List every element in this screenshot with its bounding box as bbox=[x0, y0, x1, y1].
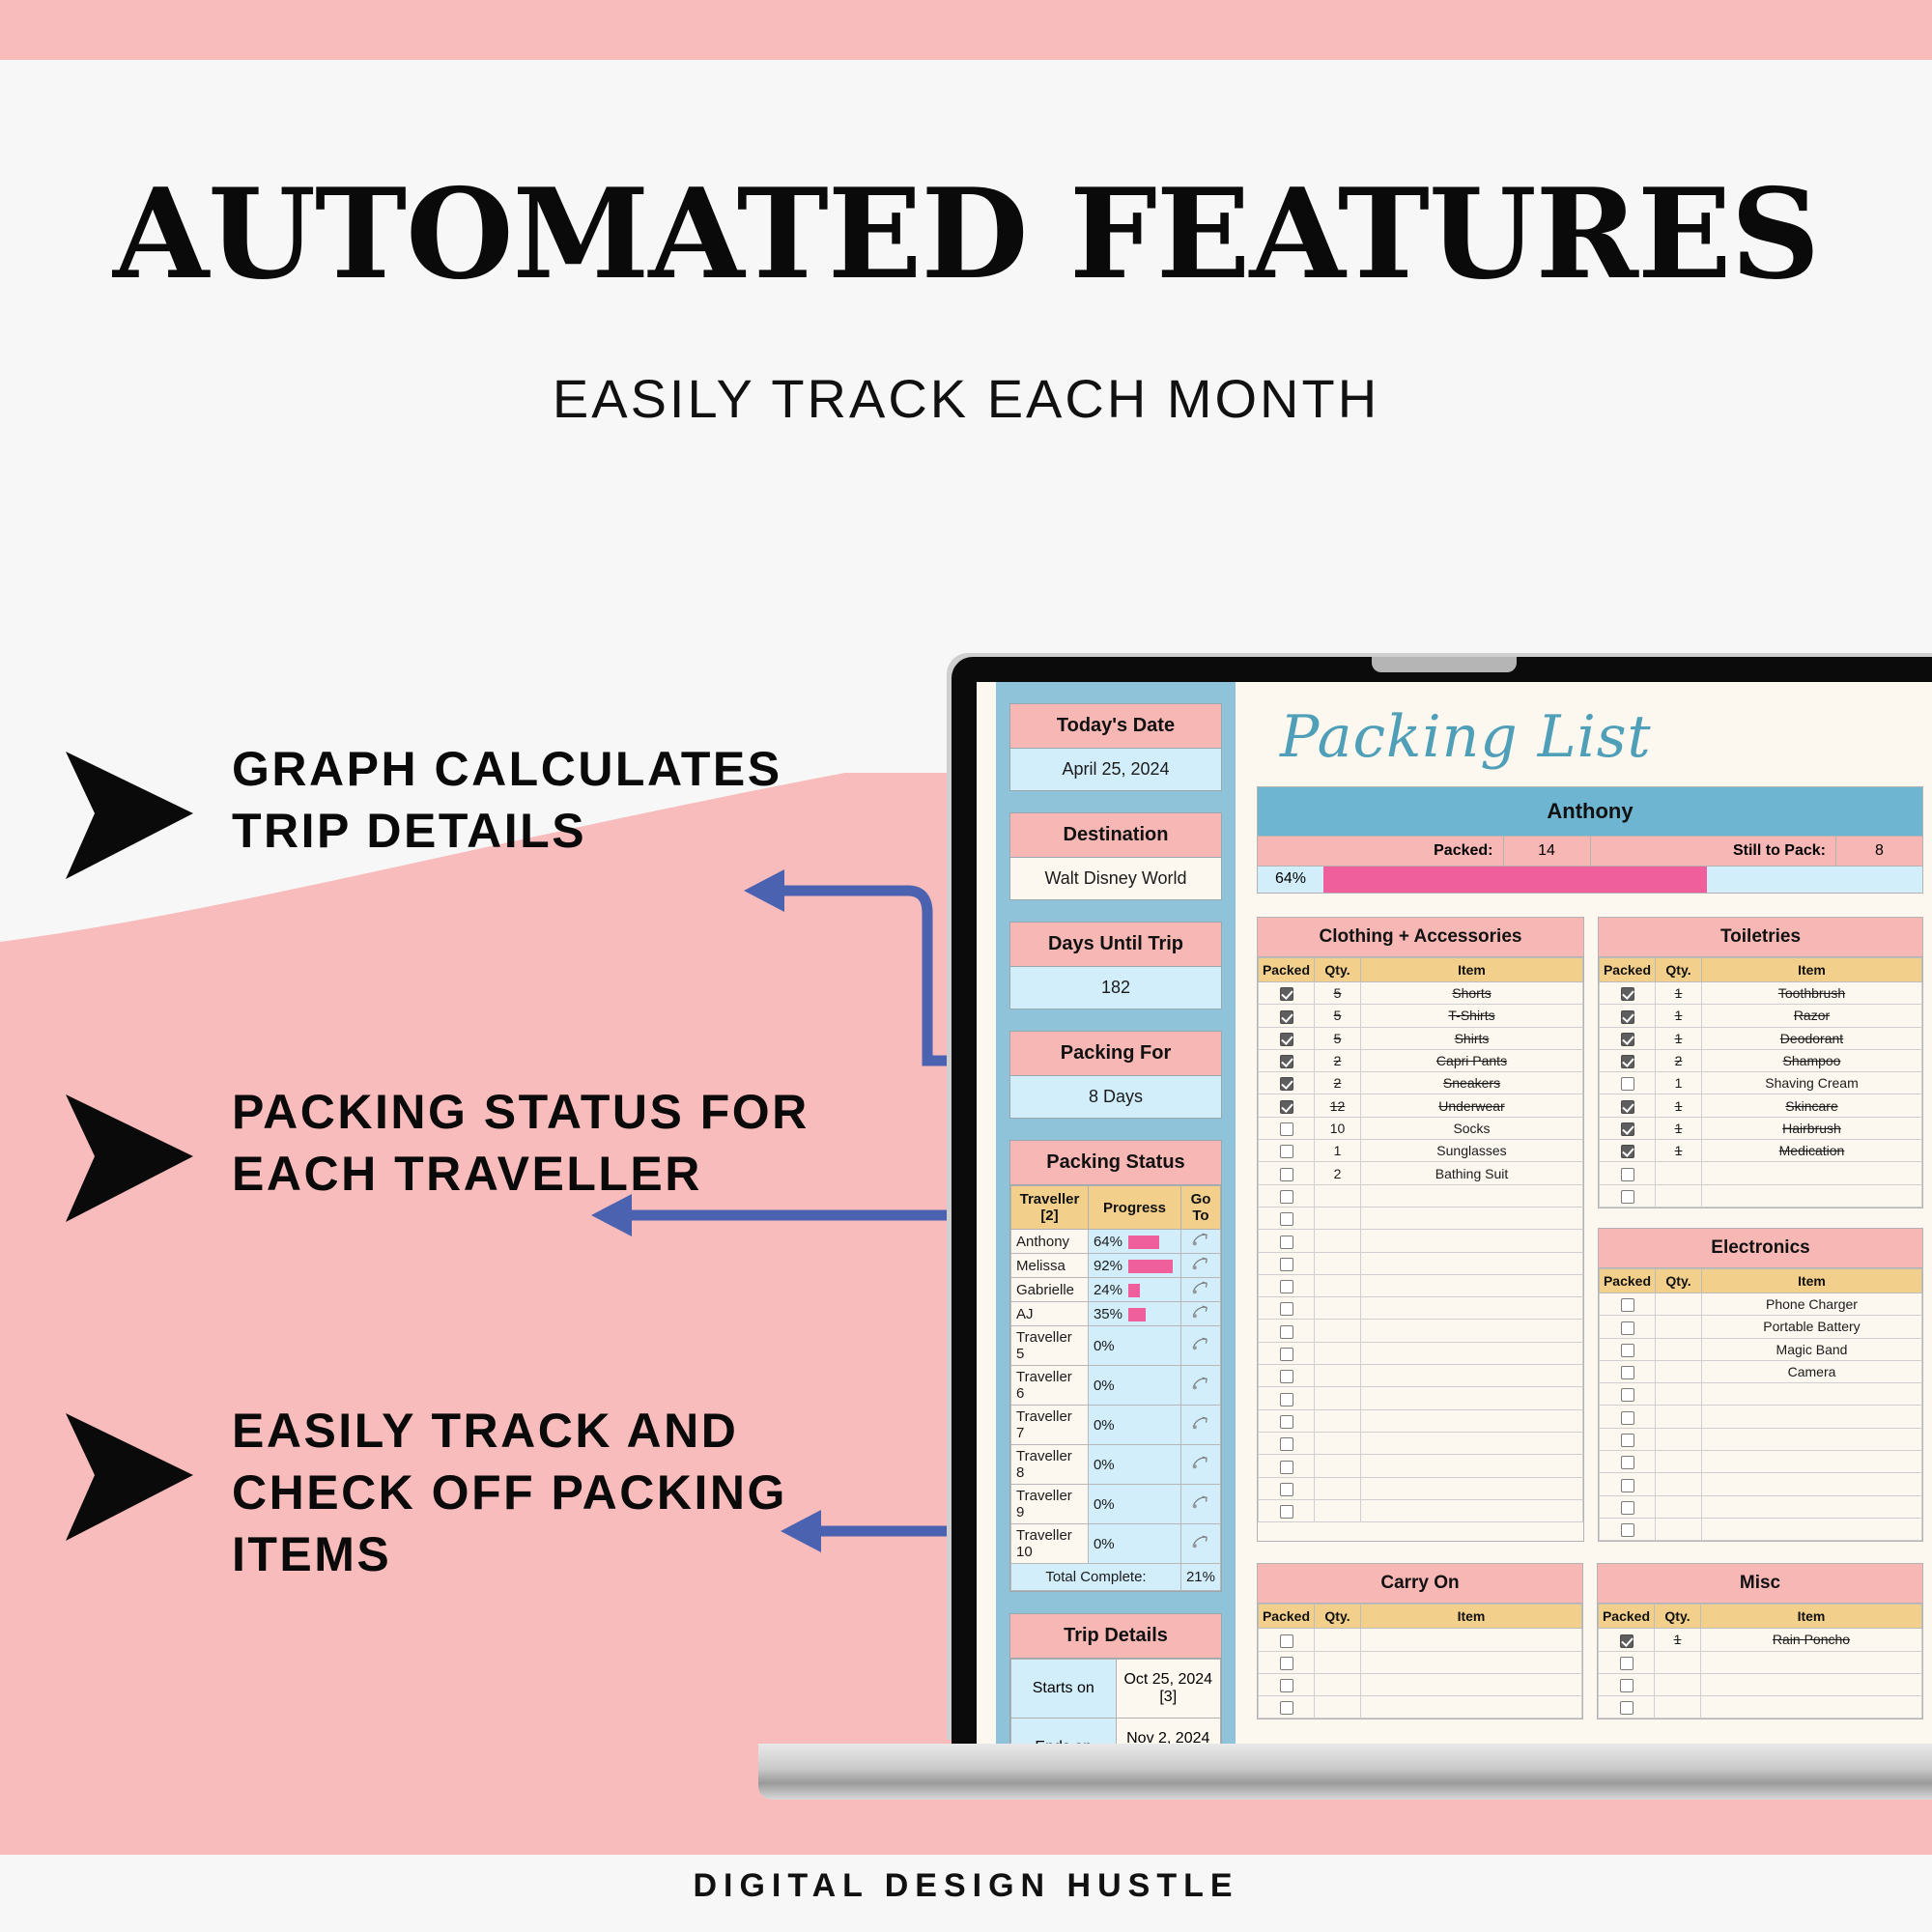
item-row bbox=[1259, 1455, 1583, 1477]
qty-cell[interactable] bbox=[1656, 1316, 1702, 1338]
packed-checkbox[interactable] bbox=[1280, 1100, 1293, 1114]
packed-checkbox[interactable] bbox=[1280, 1145, 1293, 1158]
qty-cell[interactable] bbox=[1656, 1338, 1702, 1360]
packed-checkbox[interactable] bbox=[1620, 1634, 1634, 1648]
qty-cell[interactable] bbox=[1655, 1651, 1701, 1673]
traveller-name-cell[interactable]: Melissa bbox=[1011, 1254, 1089, 1278]
item-cell[interactable] bbox=[1361, 1252, 1583, 1274]
item-cell[interactable] bbox=[1702, 1451, 1922, 1473]
packed-cell[interactable] bbox=[1600, 1473, 1656, 1495]
progress-minibar bbox=[1128, 1284, 1140, 1297]
category-title: Carry On bbox=[1258, 1564, 1582, 1604]
traveller-name-cell[interactable]: Anthony bbox=[1011, 1230, 1089, 1254]
item-row bbox=[1259, 1673, 1582, 1695]
goto-cell[interactable] bbox=[1180, 1366, 1220, 1406]
packed-cell[interactable] bbox=[1600, 1360, 1656, 1382]
packed-cell[interactable] bbox=[1599, 1629, 1655, 1651]
qty-cell[interactable] bbox=[1656, 1184, 1702, 1207]
packed-cell[interactable] bbox=[1259, 1477, 1315, 1499]
item-cell[interactable]: Hairbrush bbox=[1702, 1117, 1922, 1139]
link-arrow-icon[interactable] bbox=[1191, 1233, 1210, 1246]
qty-cell[interactable] bbox=[1315, 1387, 1361, 1409]
qty-cell[interactable] bbox=[1315, 1673, 1361, 1695]
packed-cell[interactable] bbox=[1600, 1293, 1656, 1315]
packing-status-body: Anthony64%Melissa92%Gabrielle24%AJ35%Tra… bbox=[1011, 1230, 1221, 1564]
progress-fill bbox=[1323, 867, 1707, 893]
qty-cell[interactable]: 10 bbox=[1315, 1117, 1361, 1139]
packed-checkbox[interactable] bbox=[1621, 1366, 1634, 1379]
qty-cell[interactable] bbox=[1315, 1409, 1361, 1432]
packed-checkbox[interactable] bbox=[1621, 1501, 1634, 1515]
qty-cell[interactable] bbox=[1315, 1184, 1361, 1207]
packing-status-row: Traveller 70% bbox=[1011, 1406, 1221, 1445]
packed-checkbox[interactable] bbox=[1280, 1212, 1293, 1226]
item-cell[interactable] bbox=[1361, 1184, 1583, 1207]
starts-on-label: Starts on bbox=[1011, 1660, 1117, 1719]
packed-checkbox[interactable] bbox=[1621, 1456, 1634, 1469]
item-cell[interactable] bbox=[1361, 1629, 1582, 1651]
traveller-progress-cell: 0% bbox=[1088, 1485, 1180, 1524]
qty-cell[interactable] bbox=[1315, 1365, 1361, 1387]
item-cell[interactable]: Deodorant bbox=[1702, 1027, 1922, 1049]
item-row bbox=[1599, 1673, 1922, 1695]
packed-cell[interactable] bbox=[1259, 1320, 1315, 1342]
qty-cell[interactable]: 1 bbox=[1656, 1027, 1702, 1049]
packed-checkbox[interactable] bbox=[1280, 1634, 1293, 1648]
packed-cell[interactable] bbox=[1259, 1274, 1315, 1296]
packed-cell[interactable] bbox=[1600, 1338, 1656, 1360]
traveller-name-cell[interactable]: Traveller 10 bbox=[1011, 1524, 1089, 1564]
item-cell[interactable] bbox=[1361, 1409, 1583, 1432]
qty-cell[interactable] bbox=[1315, 1477, 1361, 1499]
packed-checkbox[interactable] bbox=[1621, 1145, 1634, 1158]
packing-status-header-row: Traveller [2] Progress Go To bbox=[1011, 1186, 1221, 1230]
packed-checkbox[interactable] bbox=[1280, 1122, 1293, 1136]
item-cell[interactable] bbox=[1702, 1162, 1922, 1184]
qty-cell[interactable] bbox=[1656, 1383, 1702, 1406]
packed-cell[interactable] bbox=[1259, 1387, 1315, 1409]
packed-checkbox[interactable] bbox=[1280, 1679, 1293, 1692]
packed-checkbox[interactable] bbox=[1621, 1033, 1634, 1046]
item-cell[interactable]: Portable Battery bbox=[1702, 1316, 1922, 1338]
packed-checkbox[interactable] bbox=[1280, 1168, 1293, 1181]
item-cell[interactable]: Sneakers bbox=[1361, 1072, 1583, 1094]
item-row: 5Shirts bbox=[1259, 1027, 1583, 1049]
item-cell[interactable] bbox=[1702, 1383, 1922, 1406]
item-cell[interactable]: Shorts bbox=[1361, 982, 1583, 1005]
traveller-progress-cell: 24% bbox=[1088, 1278, 1180, 1302]
item-cell[interactable] bbox=[1361, 1432, 1583, 1454]
packed-checkbox[interactable] bbox=[1280, 1437, 1293, 1451]
packed-cell[interactable] bbox=[1259, 1629, 1315, 1651]
item-cell[interactable] bbox=[1701, 1696, 1922, 1719]
items-header-row: PackedQty.Item bbox=[1259, 1605, 1582, 1629]
packed-checkbox[interactable] bbox=[1621, 1010, 1634, 1024]
item-cell[interactable] bbox=[1702, 1406, 1922, 1428]
traveller-progress-cell: 0% bbox=[1088, 1366, 1180, 1406]
packed-checkbox[interactable] bbox=[1280, 1348, 1293, 1361]
packing-for-label: Packing For bbox=[1010, 1032, 1221, 1076]
item-cell[interactable]: Magic Band bbox=[1702, 1338, 1922, 1360]
packed-value: 14 bbox=[1503, 836, 1590, 866]
item-cell[interactable]: Capri Pants bbox=[1361, 1049, 1583, 1071]
callout-packing-status-label: PACKING STATUS FOR EACH TRAVELLER bbox=[232, 1081, 869, 1205]
item-row bbox=[1259, 1432, 1583, 1454]
link-arrow-icon[interactable] bbox=[1191, 1281, 1210, 1294]
item-row bbox=[1259, 1499, 1583, 1521]
progress-percent: 0% bbox=[1094, 1378, 1128, 1394]
packed-checkbox[interactable] bbox=[1280, 1393, 1293, 1406]
packed-checkbox[interactable] bbox=[1280, 1415, 1293, 1429]
packed-cell[interactable] bbox=[1600, 1005, 1656, 1027]
item-row: 5T-Shirts bbox=[1259, 1005, 1583, 1027]
packed-cell[interactable] bbox=[1259, 982, 1315, 1005]
item-cell[interactable]: Shirts bbox=[1361, 1027, 1583, 1049]
qty-cell[interactable]: 1 bbox=[1656, 982, 1702, 1005]
packed-checkbox[interactable] bbox=[1621, 1298, 1634, 1312]
category-title: Toiletries bbox=[1599, 918, 1922, 957]
link-arrow-icon[interactable] bbox=[1191, 1257, 1210, 1270]
qty-cell[interactable] bbox=[1655, 1696, 1701, 1719]
packed-checkbox[interactable] bbox=[1620, 1657, 1634, 1670]
packed-cell[interactable] bbox=[1599, 1696, 1655, 1719]
packed-checkbox[interactable] bbox=[1620, 1679, 1634, 1692]
qty-cell[interactable] bbox=[1315, 1455, 1361, 1477]
qty-cell[interactable]: 2 bbox=[1315, 1162, 1361, 1184]
traveller-name-cell[interactable]: Traveller 6 bbox=[1011, 1366, 1089, 1406]
destination-value[interactable]: Walt Disney World bbox=[1010, 858, 1221, 899]
item-cell[interactable]: Toothbrush bbox=[1702, 982, 1922, 1005]
item-cell[interactable]: Skincare bbox=[1702, 1094, 1922, 1117]
item-cell[interactable] bbox=[1361, 1696, 1582, 1719]
item-row: 1Rain Poncho bbox=[1599, 1629, 1922, 1651]
packed-checkbox[interactable] bbox=[1621, 1344, 1634, 1357]
packed-cell[interactable] bbox=[1259, 1162, 1315, 1184]
packed-cell[interactable] bbox=[1259, 1455, 1315, 1477]
item-row: 2Bathing Suit bbox=[1259, 1162, 1583, 1184]
link-arrow-icon[interactable] bbox=[1191, 1456, 1210, 1469]
qty-cell[interactable] bbox=[1656, 1428, 1702, 1450]
packed-checkbox[interactable] bbox=[1621, 1523, 1634, 1537]
ends-on-label: Ends on bbox=[1011, 1719, 1117, 1745]
packed-cell[interactable] bbox=[1600, 1072, 1656, 1094]
packing-list-heading: Packing List bbox=[1280, 703, 1923, 771]
item-cell[interactable] bbox=[1361, 1455, 1583, 1477]
packed-cell[interactable] bbox=[1600, 1049, 1656, 1071]
item-cell[interactable]: Shaving Cream bbox=[1702, 1072, 1922, 1094]
item-cell[interactable]: Phone Charger bbox=[1702, 1293, 1922, 1315]
item-cell[interactable]: Socks bbox=[1361, 1117, 1583, 1139]
packed-checkbox[interactable] bbox=[1621, 1479, 1634, 1492]
packed-cell[interactable] bbox=[1259, 1499, 1315, 1521]
trip-details-label: Trip Details bbox=[1010, 1614, 1221, 1659]
goto-cell[interactable] bbox=[1180, 1326, 1220, 1366]
packed-checkbox[interactable] bbox=[1621, 1411, 1634, 1425]
packed-checkbox[interactable] bbox=[1280, 1236, 1293, 1249]
goto-cell[interactable] bbox=[1180, 1254, 1220, 1278]
packed-cell[interactable] bbox=[1600, 1184, 1656, 1207]
traveller-progress-cell: 35% bbox=[1088, 1302, 1180, 1326]
packed-cell[interactable] bbox=[1259, 1365, 1315, 1387]
traveller-name-cell[interactable]: AJ bbox=[1011, 1302, 1089, 1326]
packed-checkbox[interactable] bbox=[1280, 1461, 1293, 1474]
qty-cell[interactable]: 1 bbox=[1656, 1140, 1702, 1162]
packed-cell[interactable] bbox=[1600, 1117, 1656, 1139]
todays-date-value[interactable]: April 25, 2024 bbox=[1010, 749, 1221, 790]
packed-cell[interactable] bbox=[1259, 1409, 1315, 1432]
packed-checkbox[interactable] bbox=[1280, 1302, 1293, 1316]
qty-cell[interactable]: 2 bbox=[1315, 1049, 1361, 1071]
packed-checkbox[interactable] bbox=[1280, 1280, 1293, 1293]
qty-cell[interactable] bbox=[1655, 1673, 1701, 1695]
qty-cell[interactable]: 5 bbox=[1315, 1027, 1361, 1049]
qty-cell[interactable] bbox=[1656, 1495, 1702, 1518]
qty-cell[interactable] bbox=[1315, 1207, 1361, 1229]
item-cell[interactable] bbox=[1361, 1342, 1583, 1364]
item-cell[interactable] bbox=[1361, 1673, 1582, 1695]
packed-cell[interactable] bbox=[1600, 1406, 1656, 1428]
packed-cell[interactable] bbox=[1600, 1495, 1656, 1518]
item-row bbox=[1600, 1184, 1922, 1207]
item-cell[interactable] bbox=[1361, 1297, 1583, 1320]
col-progress: Progress bbox=[1088, 1186, 1180, 1230]
progress-minibar bbox=[1128, 1236, 1159, 1249]
item-row: 1Toothbrush bbox=[1600, 982, 1922, 1005]
item-cell[interactable] bbox=[1361, 1365, 1583, 1387]
category-misc: MiscPackedQty.Item1Rain Poncho bbox=[1597, 1563, 1923, 1719]
link-arrow-icon[interactable] bbox=[1191, 1535, 1210, 1548]
packed-checkbox[interactable] bbox=[1280, 1190, 1293, 1204]
trip-details-block: Trip Details Starts on Oct 25, 2024 [3] … bbox=[1009, 1613, 1222, 1744]
qty-cell[interactable] bbox=[1315, 1696, 1361, 1719]
col-qty: Qty. bbox=[1315, 958, 1361, 982]
qty-cell[interactable] bbox=[1315, 1499, 1361, 1521]
qty-cell[interactable] bbox=[1656, 1451, 1702, 1473]
packed-cell[interactable] bbox=[1600, 1316, 1656, 1338]
qty-cell[interactable]: 2 bbox=[1315, 1072, 1361, 1094]
progress-minibar bbox=[1128, 1260, 1173, 1273]
item-row: 1Sunglasses bbox=[1259, 1140, 1583, 1162]
packed-cell[interactable] bbox=[1600, 982, 1656, 1005]
packed-checkbox[interactable] bbox=[1280, 1325, 1293, 1339]
qty-cell[interactable]: 2 bbox=[1656, 1049, 1702, 1071]
qty-cell[interactable]: 1 bbox=[1656, 1117, 1702, 1139]
packed-cell[interactable] bbox=[1259, 1207, 1315, 1229]
qty-cell[interactable] bbox=[1656, 1293, 1702, 1315]
packed-cell[interactable] bbox=[1600, 1383, 1656, 1406]
packed-cell[interactable] bbox=[1259, 1117, 1315, 1139]
item-cell[interactable] bbox=[1361, 1320, 1583, 1342]
packed-cell[interactable] bbox=[1259, 1673, 1315, 1695]
goto-cell[interactable] bbox=[1180, 1278, 1220, 1302]
packed-checkbox[interactable] bbox=[1621, 1434, 1634, 1447]
item-cell[interactable]: Bathing Suit bbox=[1361, 1162, 1583, 1184]
traveller-name-cell[interactable]: Traveller 7 bbox=[1011, 1406, 1089, 1445]
packed-checkbox[interactable] bbox=[1621, 1190, 1634, 1204]
item-cell[interactable] bbox=[1361, 1387, 1583, 1409]
packed-checkbox[interactable] bbox=[1280, 1055, 1293, 1068]
category-column-right: ToiletriesPackedQty.Item1Toothbrush1Razo… bbox=[1598, 917, 1923, 1542]
item-row bbox=[1259, 1629, 1582, 1651]
item-cell[interactable] bbox=[1702, 1184, 1922, 1207]
item-cell[interactable]: Sunglasses bbox=[1361, 1140, 1583, 1162]
qty-cell[interactable] bbox=[1656, 1473, 1702, 1495]
packed-cell[interactable] bbox=[1259, 1342, 1315, 1364]
link-arrow-icon[interactable] bbox=[1191, 1495, 1210, 1509]
qty-cell[interactable] bbox=[1656, 1162, 1702, 1184]
item-cell[interactable]: Medication bbox=[1702, 1140, 1922, 1162]
traveller-name: Anthony bbox=[1258, 787, 1922, 836]
item-cell[interactable]: Camera bbox=[1702, 1360, 1922, 1382]
packed-checkbox[interactable] bbox=[1280, 1483, 1293, 1496]
item-cell[interactable] bbox=[1702, 1428, 1922, 1450]
item-cell[interactable] bbox=[1361, 1651, 1582, 1673]
item-row: 12Underwear bbox=[1259, 1094, 1583, 1117]
item-cell[interactable] bbox=[1702, 1518, 1922, 1540]
packing-status-row: Anthony64% bbox=[1011, 1230, 1221, 1254]
packed-checkbox[interactable] bbox=[1280, 1505, 1293, 1519]
triangle-arrow-icon bbox=[58, 1406, 203, 1550]
packed-cell[interactable] bbox=[1259, 1696, 1315, 1719]
qty-cell[interactable] bbox=[1656, 1518, 1702, 1540]
item-cell[interactable]: Shampoo bbox=[1702, 1049, 1922, 1071]
packed-checkbox[interactable] bbox=[1621, 1321, 1634, 1335]
item-cell[interactable] bbox=[1361, 1274, 1583, 1296]
qty-cell[interactable] bbox=[1315, 1342, 1361, 1364]
qty-cell[interactable]: 1 bbox=[1656, 1072, 1702, 1094]
packed-checkbox[interactable] bbox=[1280, 1010, 1293, 1024]
traveller-name-cell[interactable]: Traveller 8 bbox=[1011, 1445, 1089, 1485]
qty-cell[interactable] bbox=[1315, 1651, 1361, 1673]
packed-checkbox[interactable] bbox=[1280, 1657, 1293, 1670]
qty-cell[interactable]: 1 bbox=[1656, 1094, 1702, 1117]
packed-cell[interactable] bbox=[1259, 1432, 1315, 1454]
item-cell[interactable]: Rain Poncho bbox=[1701, 1629, 1922, 1651]
packed-checkbox[interactable] bbox=[1280, 987, 1293, 1001]
traveller-name-cell[interactable]: Gabrielle bbox=[1011, 1278, 1089, 1302]
item-cell[interactable] bbox=[1702, 1473, 1922, 1495]
packed-cell[interactable] bbox=[1259, 1072, 1315, 1094]
qty-cell[interactable] bbox=[1315, 1252, 1361, 1274]
packed-checkbox[interactable] bbox=[1621, 1100, 1634, 1114]
item-cell[interactable] bbox=[1701, 1673, 1922, 1695]
qty-cell[interactable]: 5 bbox=[1315, 1005, 1361, 1027]
starts-on-value[interactable]: Oct 25, 2024 [3] bbox=[1116, 1660, 1221, 1719]
item-cell[interactable]: Razor bbox=[1702, 1005, 1922, 1027]
packed-cell[interactable] bbox=[1600, 1518, 1656, 1540]
item-cell[interactable] bbox=[1361, 1230, 1583, 1252]
packed-checkbox[interactable] bbox=[1621, 1168, 1634, 1181]
item-cell[interactable] bbox=[1701, 1651, 1922, 1673]
packed-cell[interactable] bbox=[1259, 1252, 1315, 1274]
qty-cell[interactable]: 12 bbox=[1315, 1094, 1361, 1117]
packed-cell[interactable] bbox=[1259, 1027, 1315, 1049]
goto-cell[interactable] bbox=[1180, 1524, 1220, 1564]
spreadsheet-sidebar: Today's Date April 25, 2024 Destination … bbox=[996, 682, 1236, 1744]
qty-cell[interactable] bbox=[1656, 1360, 1702, 1382]
packed-cell[interactable] bbox=[1259, 1297, 1315, 1320]
packed-checkbox[interactable] bbox=[1280, 1077, 1293, 1091]
traveller-progress-cell: 92% bbox=[1088, 1254, 1180, 1278]
qty-cell[interactable]: 5 bbox=[1315, 982, 1361, 1005]
goto-cell[interactable] bbox=[1180, 1406, 1220, 1445]
traveller-name-cell[interactable]: Traveller 9 bbox=[1011, 1485, 1089, 1524]
packed-cell[interactable] bbox=[1600, 1094, 1656, 1117]
traveller-name-cell[interactable]: Traveller 5 bbox=[1011, 1326, 1089, 1366]
item-cell[interactable] bbox=[1361, 1477, 1583, 1499]
packing-for-block: Packing For 8 Days bbox=[1009, 1031, 1222, 1119]
packed-cell[interactable] bbox=[1259, 1094, 1315, 1117]
goto-cell[interactable] bbox=[1180, 1230, 1220, 1254]
qty-cell[interactable] bbox=[1315, 1297, 1361, 1320]
item-row bbox=[1259, 1696, 1582, 1719]
packed-cell[interactable] bbox=[1600, 1140, 1656, 1162]
packed-checkbox[interactable] bbox=[1280, 1370, 1293, 1383]
packed-checkbox[interactable] bbox=[1280, 1258, 1293, 1271]
link-arrow-icon[interactable] bbox=[1191, 1337, 1210, 1350]
item-cell[interactable]: T-Shirts bbox=[1361, 1005, 1583, 1027]
packed-checkbox[interactable] bbox=[1621, 1122, 1634, 1136]
qty-cell[interactable]: 1 bbox=[1656, 1005, 1702, 1027]
packed-checkbox[interactable] bbox=[1280, 1701, 1293, 1715]
qty-cell[interactable] bbox=[1656, 1406, 1702, 1428]
packed-cell[interactable] bbox=[1259, 1005, 1315, 1027]
packed-cell[interactable] bbox=[1259, 1140, 1315, 1162]
packed-checkbox[interactable] bbox=[1280, 1033, 1293, 1046]
qty-cell[interactable] bbox=[1315, 1230, 1361, 1252]
packed-cell[interactable] bbox=[1259, 1049, 1315, 1071]
packed-cell[interactable] bbox=[1259, 1184, 1315, 1207]
link-arrow-icon[interactable] bbox=[1191, 1416, 1210, 1430]
item-cell[interactable] bbox=[1702, 1495, 1922, 1518]
packed-cell[interactable] bbox=[1600, 1162, 1656, 1184]
qty-cell[interactable]: 1 bbox=[1315, 1140, 1361, 1162]
items-header-row: PackedQty.Item bbox=[1599, 1605, 1922, 1629]
packed-cell[interactable] bbox=[1259, 1230, 1315, 1252]
packed-checkbox[interactable] bbox=[1621, 1388, 1634, 1402]
qty-cell[interactable]: 1 bbox=[1655, 1629, 1701, 1651]
packed-cell[interactable] bbox=[1599, 1651, 1655, 1673]
item-cell[interactable] bbox=[1361, 1499, 1583, 1521]
link-arrow-icon[interactable] bbox=[1191, 1377, 1210, 1390]
item-cell[interactable] bbox=[1361, 1207, 1583, 1229]
packed-cell[interactable] bbox=[1600, 1027, 1656, 1049]
qty-cell[interactable] bbox=[1315, 1629, 1361, 1651]
goto-cell[interactable] bbox=[1180, 1302, 1220, 1326]
link-arrow-icon[interactable] bbox=[1191, 1305, 1210, 1319]
qty-cell[interactable] bbox=[1315, 1274, 1361, 1296]
progress-percent: 64% bbox=[1094, 1234, 1128, 1250]
progress-minibar bbox=[1128, 1308, 1146, 1321]
qty-cell[interactable] bbox=[1315, 1432, 1361, 1454]
col-item: Item bbox=[1702, 1268, 1922, 1293]
packed-cell[interactable] bbox=[1600, 1451, 1656, 1473]
packed-cell[interactable] bbox=[1600, 1428, 1656, 1450]
goto-cell[interactable] bbox=[1180, 1445, 1220, 1485]
col-qty: Qty. bbox=[1315, 1605, 1361, 1629]
goto-cell[interactable] bbox=[1180, 1485, 1220, 1524]
qty-cell[interactable] bbox=[1315, 1320, 1361, 1342]
packed-cell[interactable] bbox=[1259, 1651, 1315, 1673]
items-header-row: PackedQty.Item bbox=[1259, 958, 1583, 982]
item-cell[interactable]: Underwear bbox=[1361, 1094, 1583, 1117]
packed-cell[interactable] bbox=[1599, 1673, 1655, 1695]
packed-checkbox[interactable] bbox=[1620, 1701, 1634, 1715]
packed-checkbox[interactable] bbox=[1621, 1077, 1634, 1091]
packed-checkbox[interactable] bbox=[1621, 1055, 1634, 1068]
packed-checkbox[interactable] bbox=[1621, 987, 1634, 1001]
ends-on-value[interactable]: Nov 2, 2024 [1] bbox=[1116, 1719, 1221, 1745]
